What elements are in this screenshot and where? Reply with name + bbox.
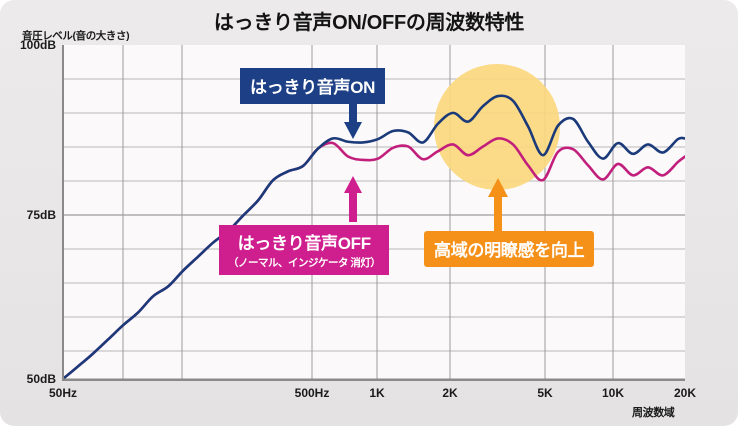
callout-on-label: はっきり音声ON: [250, 78, 375, 97]
y-tick-50db: 50dB: [8, 372, 56, 386]
x-tick-2k: 2K: [420, 386, 480, 400]
callout-off-label: はっきり音声OFF: [238, 234, 371, 253]
callout-speech-off: はっきり音声OFF （ノーマル、インジケータ 消灯）: [219, 225, 389, 275]
highlight-arrow: [488, 178, 508, 234]
x-tick-5k: 5K: [515, 386, 575, 400]
callout-off-sublabel: （ノーマル、インジケータ 消灯）: [228, 255, 380, 270]
x-tick-20k: 20K: [655, 386, 715, 400]
callout-highlight: 高域の明瞭感を向上: [424, 231, 594, 267]
x-tick-1k: 1K: [347, 386, 407, 400]
callout-speech-on: はっきり音声ON: [240, 68, 385, 104]
x-tick-10k: 10K: [583, 386, 643, 400]
y-tick-100db: 100dB: [8, 38, 56, 52]
off-arrow: [344, 176, 362, 222]
x-axis-label: 周波数域: [632, 404, 674, 420]
y-tick-75db: 75dB: [8, 208, 56, 222]
panel-bottom-edge: [0, 426, 738, 431]
callout-highlight-label: 高域の明瞭感を向上: [434, 241, 584, 260]
chart-figure: はっきり音声ON/OFFの周波数特性 音圧レベル(音の大きさ) 100dB 75…: [0, 0, 738, 431]
x-tick-500hz: 500Hz: [282, 386, 342, 400]
on-arrow: [344, 100, 362, 140]
highlight-circle: [434, 64, 560, 190]
x-tick-50hz: 50Hz: [33, 386, 93, 400]
